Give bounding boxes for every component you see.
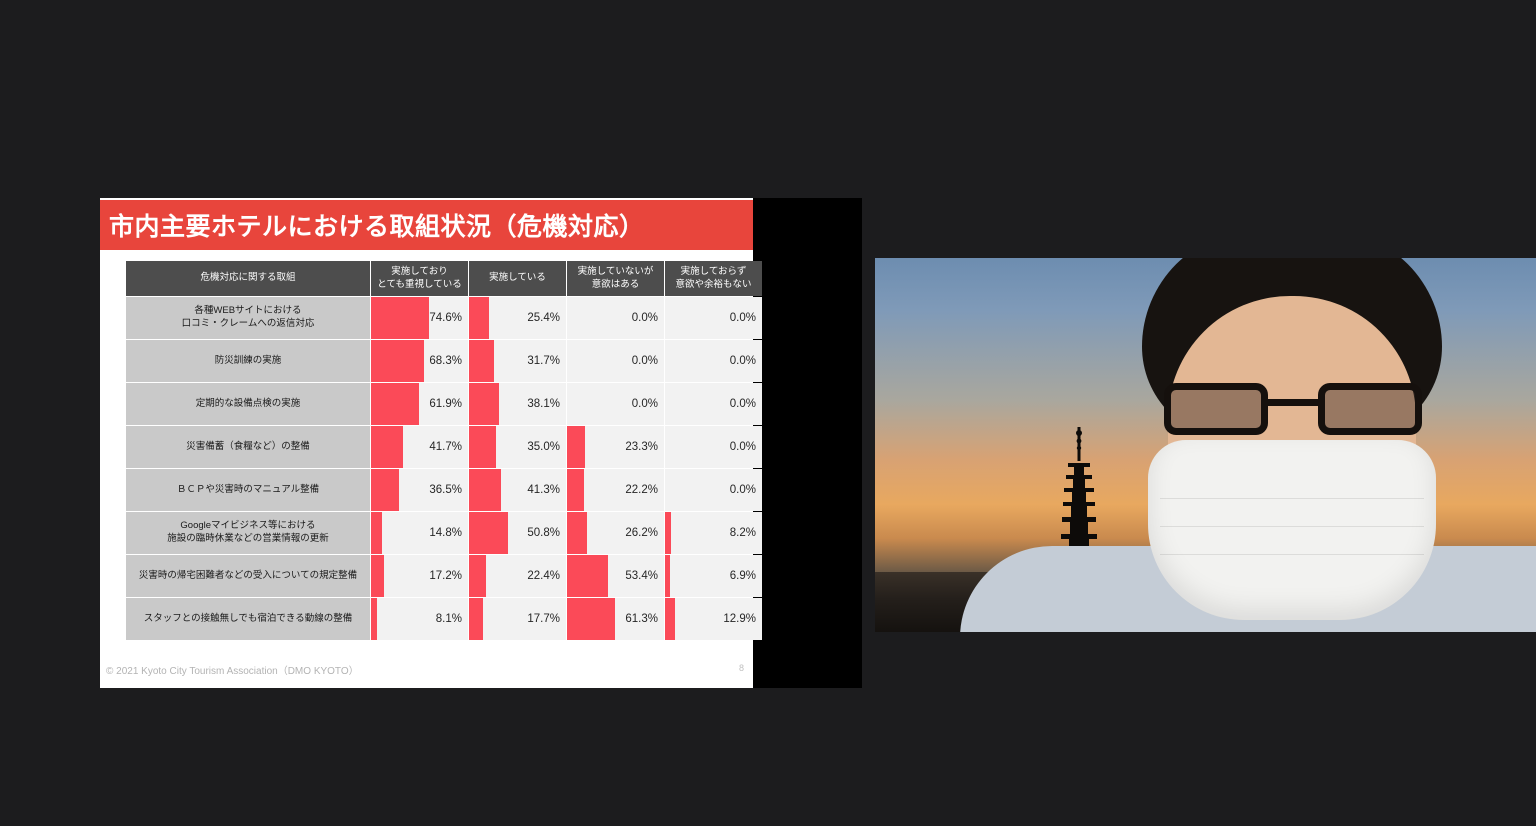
column-header-implemented-prioritized-line1: 実施しており: [391, 266, 447, 277]
value-text: 68.3%: [371, 345, 468, 377]
column-header-not-implemented-willing-line1: 実施していないが: [578, 266, 654, 277]
table-row: Googleマイビジネス等における施設の臨時休業などの営業情報の更新14.8%5…: [126, 512, 762, 554]
value-text: 31.7%: [469, 345, 566, 377]
value-cell: 17.7%: [469, 598, 566, 640]
column-header-measure-line1: 危機対応に関する取組: [200, 272, 295, 283]
value-cell: 25.4%: [469, 297, 566, 339]
value-cell: 8.2%: [665, 512, 762, 554]
column-header-not-implemented-willing: 実施していないが 意欲はある: [567, 261, 664, 296]
value-cell: 50.8%: [469, 512, 566, 554]
row-label: 各種WEBサイトにおける口コミ・クレームへの返信対応: [126, 297, 370, 339]
value-cell: 0.0%: [665, 340, 762, 382]
column-header-implemented-prioritized-line2: とても重視している: [377, 279, 461, 290]
value-text: 0.0%: [567, 388, 664, 420]
mask-pleat: [1160, 526, 1424, 527]
table-row: 災害備蓄（食糧など）の整備41.7%35.0%23.3%0.0%: [126, 426, 762, 468]
value-text: 0.0%: [567, 302, 664, 334]
value-cell: 35.0%: [469, 426, 566, 468]
table-row: ＢＣＰや災害時のマニュアル整備36.5%41.3%22.2%0.0%: [126, 469, 762, 511]
row-label-line1: Googleマイビジネス等における: [180, 520, 315, 531]
value-text: 41.3%: [469, 474, 566, 506]
column-header-not-implemented-unwilling: 実施しておらず 意欲や余裕もない: [665, 261, 762, 296]
column-header-measure: 危機対応に関する取組: [126, 261, 370, 296]
page-title: 市内主要ホテルにおける取組状況（危機対応）: [109, 207, 645, 243]
row-label-line1: ＢＣＰや災害時のマニュアル整備: [177, 484, 319, 495]
value-text: 0.0%: [665, 388, 762, 420]
value-cell: 22.4%: [469, 555, 566, 597]
value-cell: 68.3%: [371, 340, 468, 382]
column-header-implemented: 実施している: [469, 261, 566, 296]
table-body: 各種WEBサイトにおける口コミ・クレームへの返信対応74.6%25.4%0.0%…: [126, 297, 762, 640]
row-label: スタッフとの接触無しでも宿泊できる動線の整備: [126, 598, 370, 640]
row-label-line1: 各種WEBサイトにおける: [194, 305, 301, 316]
table-row: 各種WEBサイトにおける口コミ・クレームへの返信対応74.6%25.4%0.0%…: [126, 297, 762, 339]
row-label-line1: 定期的な設備点検の実施: [196, 398, 301, 409]
row-label: 災害時の帰宅困難者などの受入についての規定整備: [126, 555, 370, 597]
value-text: 61.9%: [371, 388, 468, 420]
value-text: 17.7%: [469, 603, 566, 635]
crisis-response-table: 危機対応に関する取組 実施しており とても重視している 実施している 実施してい…: [125, 260, 763, 641]
row-label-line1: スタッフとの接触無しでも宿泊できる動線の整備: [144, 613, 352, 624]
value-text: 17.2%: [371, 560, 468, 592]
value-text: 22.2%: [567, 474, 664, 506]
value-cell: 23.3%: [567, 426, 664, 468]
value-text: 53.4%: [567, 560, 664, 592]
slide-title-bar: 市内主要ホテルにおける取組状況（危機対応）: [100, 200, 753, 250]
value-cell: 53.4%: [567, 555, 664, 597]
value-text: 74.6%: [371, 302, 468, 334]
column-header-not-implemented-unwilling-line1: 実施しておらず: [681, 266, 747, 277]
row-label: 定期的な設備点検の実施: [126, 383, 370, 425]
value-cell: 0.0%: [567, 383, 664, 425]
value-text: 14.8%: [371, 517, 468, 549]
value-text: 23.3%: [567, 431, 664, 463]
value-text: 0.0%: [665, 302, 762, 334]
column-header-not-implemented-willing-line2: 意欲はある: [592, 279, 640, 290]
value-cell: 22.2%: [567, 469, 664, 511]
participant-video-tile[interactable]: [875, 258, 1536, 632]
value-text: 6.9%: [665, 560, 762, 592]
value-cell: 0.0%: [665, 469, 762, 511]
value-cell: 26.2%: [567, 512, 664, 554]
row-label: Googleマイビジネス等における施設の臨時休業などの営業情報の更新: [126, 512, 370, 554]
value-text: 0.0%: [665, 345, 762, 377]
row-label-line1: 防災訓練の実施: [215, 355, 282, 366]
column-header-implemented-prioritized: 実施しており とても重視している: [371, 261, 468, 296]
value-text: 38.1%: [469, 388, 566, 420]
row-label: ＢＣＰや災害時のマニュアル整備: [126, 469, 370, 511]
value-text: 0.0%: [567, 345, 664, 377]
row-label: 災害備蓄（食糧など）の整備: [126, 426, 370, 468]
value-text: 8.1%: [371, 603, 468, 635]
value-cell: 31.7%: [469, 340, 566, 382]
participant-figure: [1090, 258, 1536, 632]
value-cell: 36.5%: [371, 469, 468, 511]
value-cell: 74.6%: [371, 297, 468, 339]
value-text: 35.0%: [469, 431, 566, 463]
row-label-line2: 施設の臨時休業などの営業情報の更新: [167, 533, 329, 544]
value-text: 25.4%: [469, 302, 566, 334]
value-cell: 41.7%: [371, 426, 468, 468]
value-text: 50.8%: [469, 517, 566, 549]
value-text: 0.0%: [665, 474, 762, 506]
value-cell: 61.9%: [371, 383, 468, 425]
value-text: 12.9%: [665, 603, 762, 635]
value-text: 0.0%: [665, 431, 762, 463]
value-cell: 8.1%: [371, 598, 468, 640]
screen-share-region: 市内主要ホテルにおける取組状況（危機対応） 危機対応に関する取組 実施しており …: [100, 198, 862, 688]
value-text: 61.3%: [567, 603, 664, 635]
glasses-right-lens: [1318, 383, 1422, 435]
value-cell: 61.3%: [567, 598, 664, 640]
value-text: 41.7%: [371, 431, 468, 463]
row-label-line1: 災害備蓄（食糧など）の整備: [186, 441, 310, 452]
mask-pleat: [1160, 554, 1424, 555]
value-text: 36.5%: [371, 474, 468, 506]
value-cell: 0.0%: [665, 383, 762, 425]
value-cell: 0.0%: [665, 426, 762, 468]
value-cell: 38.1%: [469, 383, 566, 425]
glasses-icon: [1164, 383, 1422, 435]
row-label-line2: 口コミ・クレームへの返信対応: [182, 318, 315, 329]
value-cell: 0.0%: [567, 297, 664, 339]
mask-pleat: [1160, 498, 1424, 499]
glasses-bridge: [1268, 399, 1318, 406]
value-text: 8.2%: [665, 517, 762, 549]
slide-page-number: 8: [739, 663, 744, 673]
column-header-implemented-line1: 実施している: [489, 272, 546, 283]
row-label-line1: 災害時の帰宅困難者などの受入についての規定整備: [139, 570, 357, 581]
column-header-not-implemented-unwilling-line2: 意欲や余裕もない: [675, 279, 751, 290]
presentation-slide: 市内主要ホテルにおける取組状況（危機対応） 危機対応に関する取組 実施しており …: [100, 198, 753, 688]
value-cell: 12.9%: [665, 598, 762, 640]
table-row: 防災訓練の実施68.3%31.7%0.0%0.0%: [126, 340, 762, 382]
table-row: スタッフとの接触無しでも宿泊できる動線の整備8.1%17.7%61.3%12.9…: [126, 598, 762, 640]
copyright-text: © 2021 Kyoto City Tourism Association（DM…: [106, 662, 359, 677]
value-cell: 14.8%: [371, 512, 468, 554]
table-row: 定期的な設備点検の実施61.9%38.1%0.0%0.0%: [126, 383, 762, 425]
table-row: 災害時の帰宅困難者などの受入についての規定整備17.2%22.4%53.4%6.…: [126, 555, 762, 597]
glasses-left-lens: [1164, 383, 1268, 435]
value-cell: 17.2%: [371, 555, 468, 597]
value-cell: 6.9%: [665, 555, 762, 597]
value-text: 22.4%: [469, 560, 566, 592]
value-cell: 0.0%: [567, 340, 664, 382]
table-header-row: 危機対応に関する取組 実施しており とても重視している 実施している 実施してい…: [126, 261, 762, 296]
face-mask-shape: [1148, 440, 1436, 620]
value-text: 26.2%: [567, 517, 664, 549]
slide-footer: © 2021 Kyoto City Tourism Association（DM…: [100, 654, 753, 688]
value-cell: 0.0%: [665, 297, 762, 339]
value-cell: 41.3%: [469, 469, 566, 511]
row-label: 防災訓練の実施: [126, 340, 370, 382]
